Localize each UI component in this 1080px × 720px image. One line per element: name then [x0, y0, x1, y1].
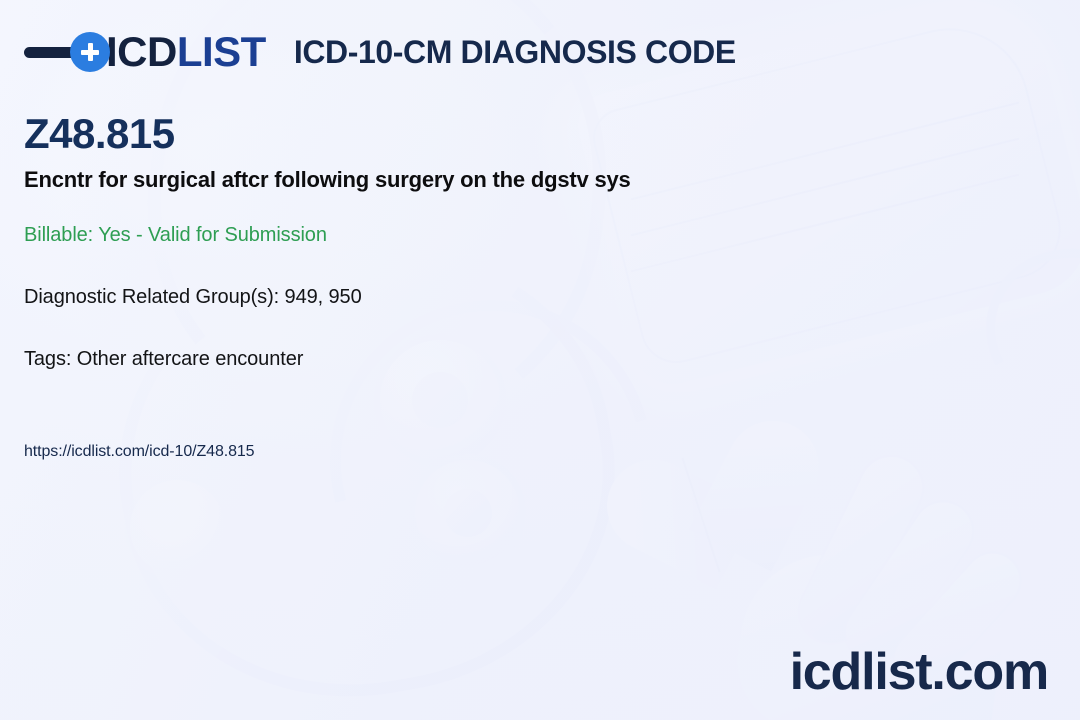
tags: Tags: Other aftercare encounter	[24, 348, 303, 371]
drg-groups: Diagnostic Related Group(s): 949, 950	[24, 286, 362, 309]
header: ICDLIST ICD-10-CM DIAGNOSIS CODE	[24, 24, 736, 80]
logo-word-list: LIST	[177, 28, 266, 75]
plus-circle-icon	[70, 32, 110, 72]
card-content: ICDLIST ICD-10-CM DIAGNOSIS CODE Z48.815…	[0, 0, 1080, 720]
icd-code-card: ICDLIST ICD-10-CM DIAGNOSIS CODE Z48.815…	[0, 0, 1080, 720]
icdlist-logo[interactable]: ICDLIST	[24, 24, 266, 80]
footer-brand: icdlist.com	[790, 646, 1048, 698]
plus-icon-horizontal	[81, 50, 99, 55]
billable-status: Billable: Yes - Valid for Submission	[24, 224, 327, 247]
diagnosis-code: Z48.815	[24, 112, 175, 156]
header-title: ICD-10-CM DIAGNOSIS CODE	[294, 34, 736, 71]
logo-word-icd: ICD	[106, 28, 177, 75]
source-url[interactable]: https://icdlist.com/icd-10/Z48.815	[24, 443, 254, 461]
diagnosis-description: Encntr for surgical aftcr following surg…	[24, 167, 631, 193]
